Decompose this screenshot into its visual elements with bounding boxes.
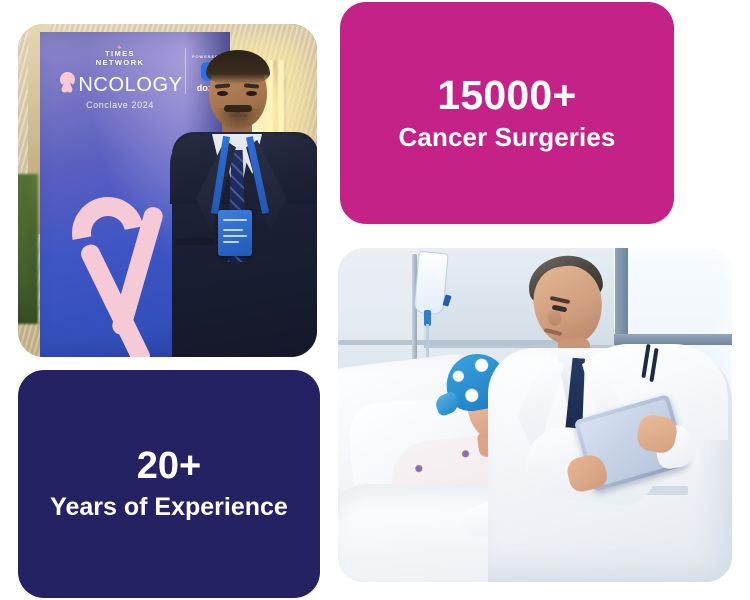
- attendee-mouth: [230, 114, 247, 117]
- banner-logo-lockup: ♣ TIMES NETWORK NCOLOGY Conclave 2024: [54, 46, 186, 110]
- photo-hospital-consultation: [338, 248, 732, 582]
- attendee-eye-right: [246, 91, 257, 96]
- event-subtitle-text: Conclave 2024: [54, 100, 186, 110]
- wall-rail: [338, 340, 568, 345]
- stat-number-cancer-surgeries: 15000+: [437, 74, 576, 117]
- attendee-moustache: [224, 105, 252, 112]
- brand-line-2: NETWORK: [96, 58, 145, 67]
- potted-plant-icon: [18, 174, 38, 324]
- stat-card-cancer-surgeries: 15000+ Cancer Surgeries: [340, 2, 674, 224]
- attendee-hair: [206, 50, 270, 84]
- times-network-wordmark: ♣ TIMES NETWORK: [54, 46, 186, 67]
- attendee-conference-badge: [218, 210, 252, 256]
- stat-label-years-of-experience: Years of Experience: [50, 493, 288, 522]
- ribbon-loop: [60, 72, 75, 87]
- awareness-ribbon-icon: [57, 72, 77, 98]
- oncology-wordmark: NCOLOGY: [54, 71, 186, 99]
- attendee-jacket-pocket: [176, 238, 214, 245]
- stat-card-years-of-experience: 20+ Years of Experience: [18, 370, 320, 598]
- stat-number-years-of-experience: 20+: [137, 447, 201, 487]
- attendee-eye-left: [217, 91, 228, 96]
- stats-photo-collage: ♣ TIMES NETWORK NCOLOGY Conclave 2024 PO…: [0, 0, 750, 600]
- photo-conference-banner: ♣ TIMES NETWORK NCOLOGY Conclave 2024 PO…: [18, 24, 317, 357]
- conference-attendee-figure: [170, 42, 317, 357]
- event-title-text: NCOLOGY: [78, 74, 182, 96]
- iv-drip-bag-icon: [413, 251, 448, 315]
- stat-label-cancer-surgeries: Cancer Surgeries: [399, 123, 616, 153]
